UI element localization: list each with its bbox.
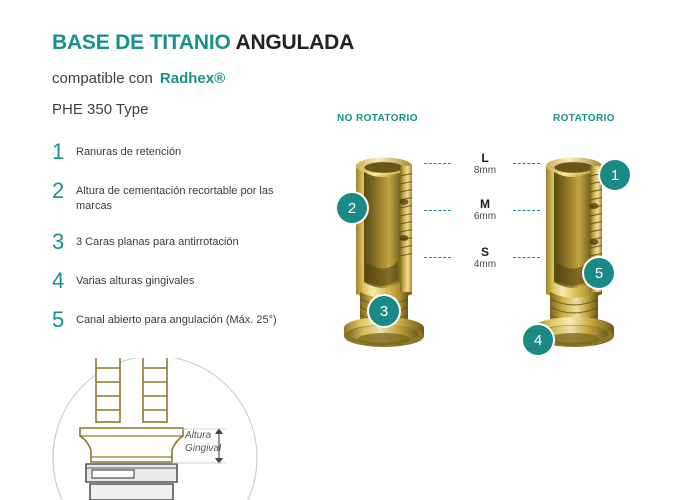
callout-badge-4[interactable]: 4 (523, 325, 553, 355)
size-key: L (455, 152, 515, 165)
size-value: 8mm (455, 165, 515, 177)
callout-badge-5[interactable]: 5 (584, 258, 614, 288)
page-title: BASE DE TITANIO ANGULADA (52, 31, 354, 55)
gingival-height-line2: Gingival (185, 443, 221, 456)
column-heading-rotating: ROTATORIO (553, 113, 615, 124)
feature-number: 5 (52, 309, 76, 331)
feature-text: Ranuras de retención (76, 141, 181, 160)
feature-number: 2 (52, 180, 76, 202)
callout-badge-3[interactable]: 3 (369, 296, 399, 326)
size-label-m: M 6mm (455, 198, 515, 223)
compatible-label: compatible con (52, 70, 153, 87)
list-item: 5 Canal abierto para angulación (Máx. 25… (52, 309, 327, 331)
product-type: PHE 350 Type (52, 101, 148, 118)
compatibility-line: compatible conRadhex® (52, 70, 225, 87)
size-label-s: S 4mm (455, 246, 515, 271)
feature-text: Varias alturas gingivales (76, 270, 194, 289)
feature-text: Canal abierto para angulación (Máx. 25°) (76, 309, 277, 328)
callout-badge-1[interactable]: 1 (600, 160, 630, 190)
list-item: 1 Ranuras de retención (52, 141, 327, 163)
feature-number: 3 (52, 231, 76, 253)
gingival-height-line1: Altura (185, 430, 221, 443)
product-sheet: BASE DE TITANIO ANGULADA compatible conR… (0, 0, 700, 500)
column-heading-non-rotating: NO ROTATORIO (337, 113, 418, 124)
callout-badge-2[interactable]: 2 (337, 193, 367, 223)
list-item: 3 3 Caras planas para antirrotación (52, 231, 327, 253)
size-value: 4mm (455, 259, 515, 271)
title-primary: BASE DE TITANIO (52, 31, 231, 54)
brand-name: Radhex® (160, 70, 225, 87)
feature-text: 3 Caras planas para antirrotación (76, 231, 239, 250)
size-value: 6mm (455, 211, 515, 223)
gingival-height-label: Altura Gingival (185, 430, 221, 455)
feature-text: Altura de cementación recortable por las… (76, 180, 311, 214)
gingival-height-inset (48, 358, 263, 500)
list-item: 2 Altura de cementación recortable por l… (52, 180, 327, 214)
feature-number: 4 (52, 270, 76, 292)
implant-render-non-rotating (330, 142, 450, 362)
size-key: M (455, 198, 515, 211)
size-key: S (455, 246, 515, 259)
list-item: 4 Varias alturas gingivales (52, 270, 327, 292)
feature-list: 1 Ranuras de retención 2 Altura de cemen… (52, 141, 327, 348)
title-secondary: ANGULADA (235, 31, 354, 54)
size-label-l: L 8mm (455, 152, 515, 177)
feature-number: 1 (52, 141, 76, 163)
